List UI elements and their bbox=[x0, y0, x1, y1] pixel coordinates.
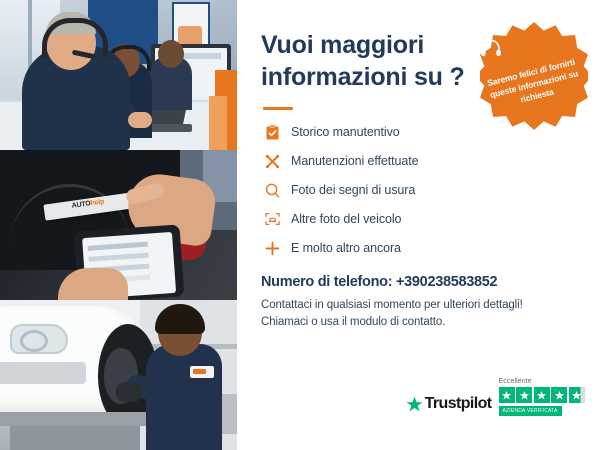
star-icon bbox=[516, 387, 532, 403]
content-panel: Vuoi maggiori informazioni su ? Storico … bbox=[237, 0, 600, 450]
headlight-shape bbox=[10, 324, 68, 354]
page-title: Vuoi maggiori informazioni su ? bbox=[261, 30, 476, 93]
list-item: Foto dei segni di usura bbox=[261, 180, 578, 200]
feature-list: Storico manutentivo Manutenzioni effettu… bbox=[261, 122, 578, 258]
uniform-logo-shape bbox=[190, 366, 214, 378]
colleague-far-head-shape bbox=[158, 40, 184, 68]
list-item-label: Altre foto del veicolo bbox=[291, 212, 401, 226]
trustpilot-rating: Eccellente AZIENDA VERIFICATA bbox=[499, 378, 587, 416]
list-item-label: Foto dei segni di usura bbox=[291, 183, 415, 197]
verified-badge: AZIENDA VERIFICATA bbox=[499, 406, 562, 416]
star-icon bbox=[499, 387, 515, 403]
clipboard-check-icon bbox=[261, 122, 283, 142]
star-icon bbox=[534, 387, 550, 403]
list-item: E molto altro ancora bbox=[261, 238, 578, 258]
trustpilot-stars bbox=[499, 387, 587, 403]
title-divider bbox=[263, 107, 293, 110]
contact-text-line-1: Contattaci in qualsiasi momento per ulte… bbox=[261, 297, 578, 314]
agent-hand-shape bbox=[128, 112, 152, 128]
list-item: Altre foto del veicolo bbox=[261, 209, 578, 229]
trustpilot-widget[interactable]: Trustpilot Eccellente AZIENDA VERIFICATA bbox=[406, 378, 586, 416]
phone-label: Numero di telefono: bbox=[261, 274, 392, 290]
phone-line: Numero di telefono: +390238583852 bbox=[261, 274, 578, 290]
scan-car-icon bbox=[261, 209, 283, 229]
callout-badge: Saremo felici di fornirti queste informa… bbox=[480, 22, 588, 130]
list-item: Manutenzioni effettuate bbox=[261, 151, 578, 171]
star-icon bbox=[569, 387, 585, 403]
inspector-hand-shape-2 bbox=[58, 268, 128, 300]
lift-platform-shape bbox=[0, 412, 150, 426]
contact-text-line-2: Chiamaci o usa il modulo di contatto. bbox=[261, 314, 578, 331]
trustpilot-star-icon bbox=[406, 396, 423, 413]
trustpilot-logo: Trustpilot bbox=[406, 395, 492, 416]
tools-cross-icon bbox=[261, 151, 283, 171]
bumper-shape bbox=[0, 362, 86, 384]
list-item-label: Manutenzioni effettuate bbox=[291, 154, 418, 168]
promo-banner: AUTOhelp Vuoi maggior bbox=[0, 0, 600, 450]
magnifier-icon bbox=[261, 180, 283, 200]
wheel-service-photo bbox=[0, 300, 237, 450]
orange-panel-shape-2 bbox=[209, 96, 227, 150]
trustpilot-rating-label: Eccellente bbox=[499, 378, 532, 385]
call-center-photo bbox=[0, 0, 237, 150]
car-inspection-photo: AUTOhelp bbox=[0, 150, 237, 300]
list-item-label: E molto altro ancora bbox=[291, 241, 401, 255]
plus-icon bbox=[261, 238, 283, 258]
lift-base-shape bbox=[10, 426, 140, 450]
trustpilot-wordmark: Trustpilot bbox=[425, 395, 492, 413]
star-icon bbox=[551, 387, 567, 403]
phone-number[interactable]: +390238583852 bbox=[396, 274, 497, 290]
photo-column: AUTOhelp bbox=[0, 0, 237, 450]
contact-text: Contattaci in qualsiasi momento per ulte… bbox=[261, 297, 578, 332]
mechanic-glove-shape bbox=[116, 382, 142, 402]
list-item-label: Storico manutentivo bbox=[291, 125, 400, 139]
